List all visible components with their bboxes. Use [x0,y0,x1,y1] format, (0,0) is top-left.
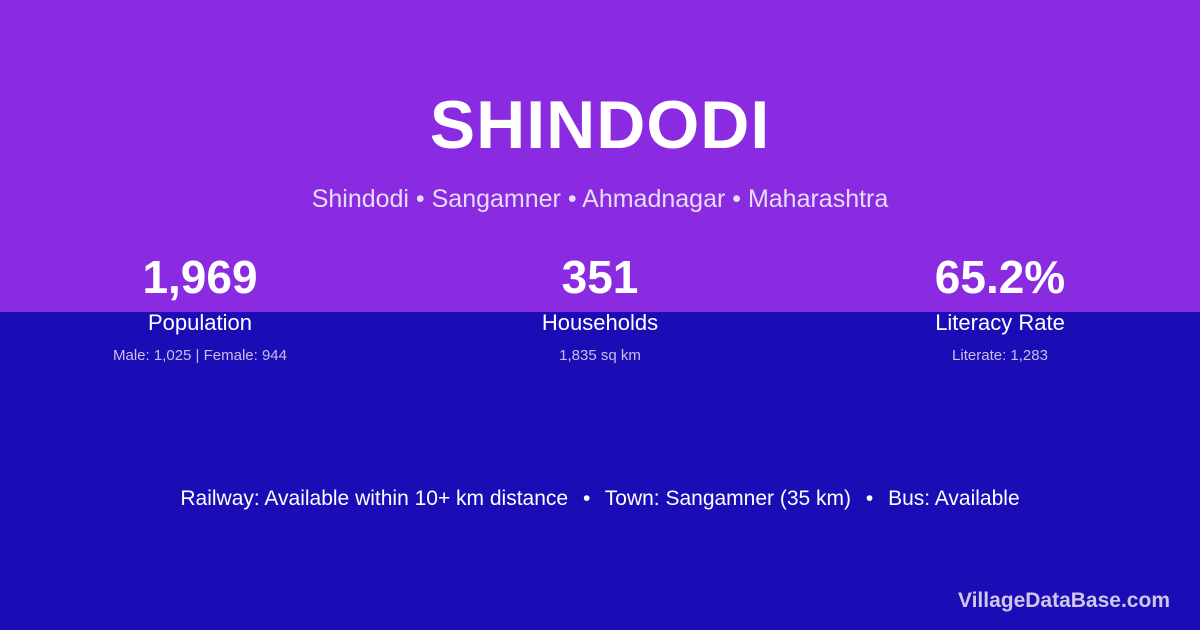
stat-sublabel: 1,835 sq km [400,343,800,369]
stat-sublabel: Male: 1,025 | Female: 944 [0,343,400,369]
amenity-separator: • [857,487,882,510]
stat-label: Population [0,308,400,338]
amenities-line: Railway: Available within 10+ km distanc… [0,483,1200,515]
village-info-card: SHINDODI Shindodi • Sangamner • Ahmadnag… [0,0,1200,630]
stat-households: 351 Households 1,835 sq km [400,246,800,369]
stat-sublabel: Literate: 1,283 [800,343,1200,369]
stat-value: 351 [400,246,800,308]
stat-label: Literacy Rate [800,308,1200,338]
stat-literacy-rate: 65.2% Literacy Rate Literate: 1,283 [800,246,1200,369]
stat-value: 65.2% [800,246,1200,308]
stat-value: 1,969 [0,246,400,308]
amenity-bus: Bus: Available [888,487,1020,510]
stat-population: 1,969 Population Male: 1,025 | Female: 9… [0,246,400,369]
amenity-separator: • [574,487,599,510]
page-title: SHINDODI [0,82,1200,168]
site-branding: VillageDataBase.com [958,587,1170,615]
breadcrumb: Shindodi • Sangamner • Ahmadnagar • Maha… [0,182,1200,216]
amenity-railway: Railway: Available within 10+ km distanc… [180,487,568,510]
stat-label: Households [400,308,800,338]
amenity-town: Town: Sangamner (35 km) [605,487,851,510]
stats-row: 1,969 Population Male: 1,025 | Female: 9… [0,246,1200,369]
